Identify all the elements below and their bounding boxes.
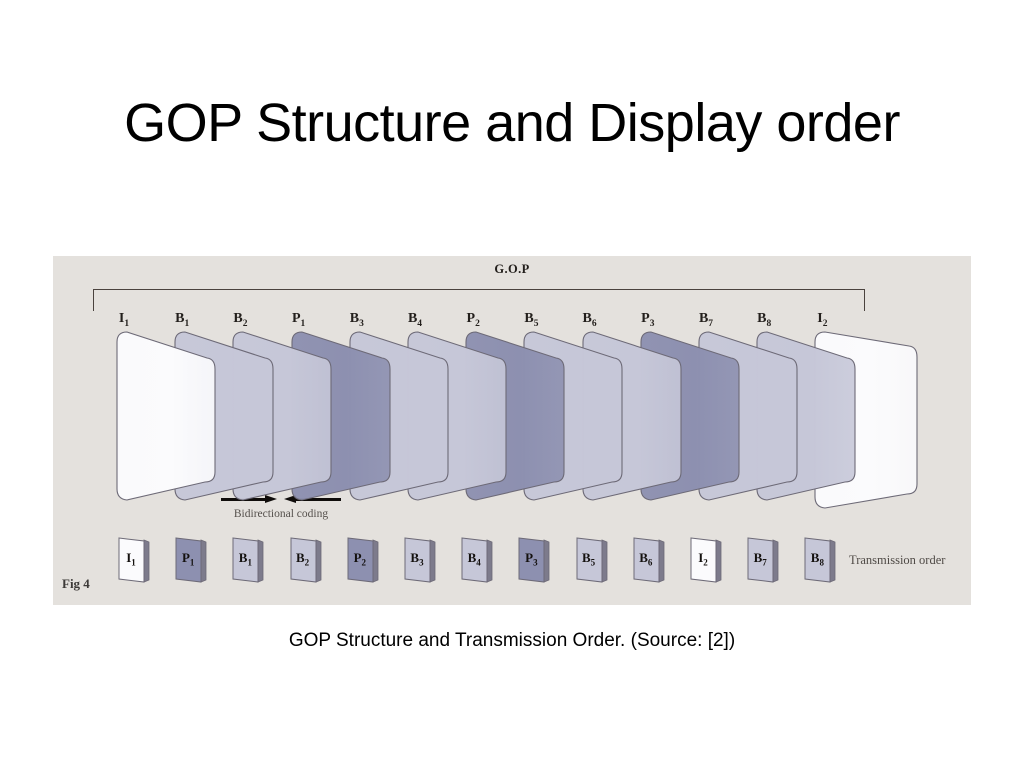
gop-figure: G.O.P I1B1B2P1B3B4P2B5B6P3B7B8I2 Bidirec… bbox=[53, 256, 971, 605]
display-frame-label-b3: B3 bbox=[342, 312, 372, 329]
transmission-frame-card-p2: P2 bbox=[344, 536, 384, 584]
display-frame-label-p2: P2 bbox=[458, 312, 488, 329]
display-frame-label-i2: I2 bbox=[807, 312, 837, 329]
transmission-order-label: Transmission order bbox=[849, 553, 945, 568]
display-frame-label-b8: B8 bbox=[749, 312, 779, 329]
display-frame-label-b7: B7 bbox=[691, 312, 721, 329]
display-frame-label-i1: I1 bbox=[109, 312, 139, 329]
transmission-frame-card-p3: P3 bbox=[515, 536, 555, 584]
transmission-frame-card-b1: B1 bbox=[229, 536, 269, 584]
transmission-frame-card-b7: B7 bbox=[744, 536, 784, 584]
transmission-frame-card-b8: B8 bbox=[801, 536, 841, 584]
display-frame-label-b2: B2 bbox=[225, 312, 255, 329]
display-frame-label-b6: B6 bbox=[575, 312, 605, 329]
display-order-frame-stack bbox=[53, 332, 971, 518]
transmission-frame-card-b2: B2 bbox=[287, 536, 327, 584]
gop-bracket-label: G.O.P bbox=[53, 262, 971, 277]
transmission-frame-card-i2: I2 bbox=[687, 536, 727, 584]
gop-bracket bbox=[93, 289, 865, 311]
transmission-frame-card-b6: B6 bbox=[630, 536, 670, 584]
display-frame-label-p1: P1 bbox=[284, 312, 314, 329]
transmission-frame-card-b3: B3 bbox=[401, 536, 441, 584]
transmission-order-row: I1P1B1B2P2B3B4P3B5B6I2B7B8 bbox=[53, 536, 971, 592]
display-frame-card-i1 bbox=[111, 332, 223, 512]
transmission-frame-card-i1: I1 bbox=[115, 536, 155, 584]
transmission-frame-card-b4: B4 bbox=[458, 536, 498, 584]
display-frame-label-b1: B1 bbox=[167, 312, 197, 329]
display-frame-label-b4: B4 bbox=[400, 312, 430, 329]
page-title: GOP Structure and Display order bbox=[0, 92, 1024, 154]
display-frame-label-b5: B5 bbox=[516, 312, 546, 329]
transmission-frame-card-p1: P1 bbox=[172, 536, 212, 584]
figure-caption: GOP Structure and Transmission Order. (S… bbox=[0, 630, 1024, 652]
transmission-frame-card-b5: B5 bbox=[573, 536, 613, 584]
display-frame-label-p3: P3 bbox=[633, 312, 663, 329]
